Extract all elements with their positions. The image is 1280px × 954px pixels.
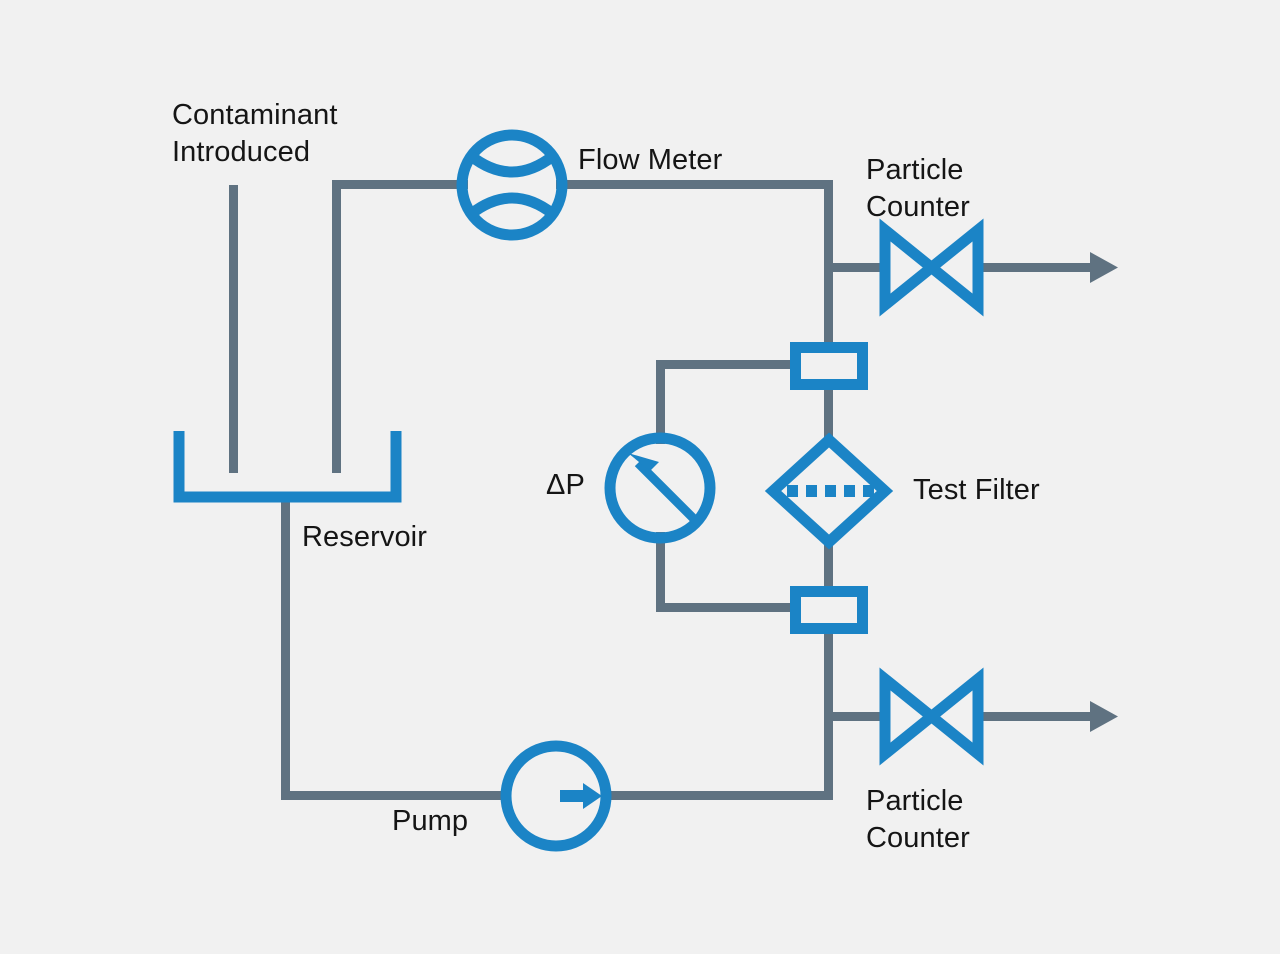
particle-counter-upstream[interactable] xyxy=(885,230,978,305)
pump-flow-arrow-icon xyxy=(560,783,602,809)
pressure-tap-upstream[interactable] xyxy=(796,348,863,385)
delta-p-label: ΔP xyxy=(546,467,585,504)
particle-counter-downstream-label: ParticleCounter xyxy=(866,783,970,857)
flow-meter-body xyxy=(462,135,562,235)
test-filter[interactable] xyxy=(773,440,885,542)
particle-counter-downstream-line1: Particle xyxy=(866,785,964,817)
flow-meter-label: Flow Meter xyxy=(578,142,722,179)
contaminant-introduced-line1: Contaminant xyxy=(172,99,338,131)
particle-counter-downstream-line2: Counter xyxy=(866,822,970,854)
reservoir[interactable] xyxy=(179,431,396,497)
differential-pressure-gauge[interactable] xyxy=(610,438,710,538)
flow-meter-upper-arc xyxy=(471,156,553,172)
contaminant-introduced-line2: Introduced xyxy=(172,136,310,168)
particle-counter-upstream-label: ParticleCounter xyxy=(866,152,970,226)
test-filter-label: Test Filter xyxy=(913,472,1040,509)
flow-meter[interactable] xyxy=(462,135,562,235)
flow-schematic-diagram: ContaminantIntroduced Flow Meter Particl… xyxy=(0,0,1280,954)
contaminant-introduced-label: ContaminantIntroduced xyxy=(172,97,338,171)
flow-meter-lower-arc xyxy=(471,198,553,214)
particle-counter-downstream-symbol xyxy=(885,679,978,754)
pump[interactable] xyxy=(506,746,606,846)
reservoir-label: Reservoir xyxy=(302,519,427,556)
particle-counter-downstream[interactable] xyxy=(885,679,978,754)
particle-counter-upstream-symbol xyxy=(885,230,978,305)
dp-gauge-needle-shaft xyxy=(638,463,699,524)
test-filter-media-dots xyxy=(787,485,874,497)
particle-counter-upstream-line1: Particle xyxy=(866,154,964,186)
pressure-tap-downstream[interactable] xyxy=(796,592,863,629)
pump-label: Pump xyxy=(392,803,468,840)
particle-counter-upstream-line2: Counter xyxy=(866,191,970,223)
